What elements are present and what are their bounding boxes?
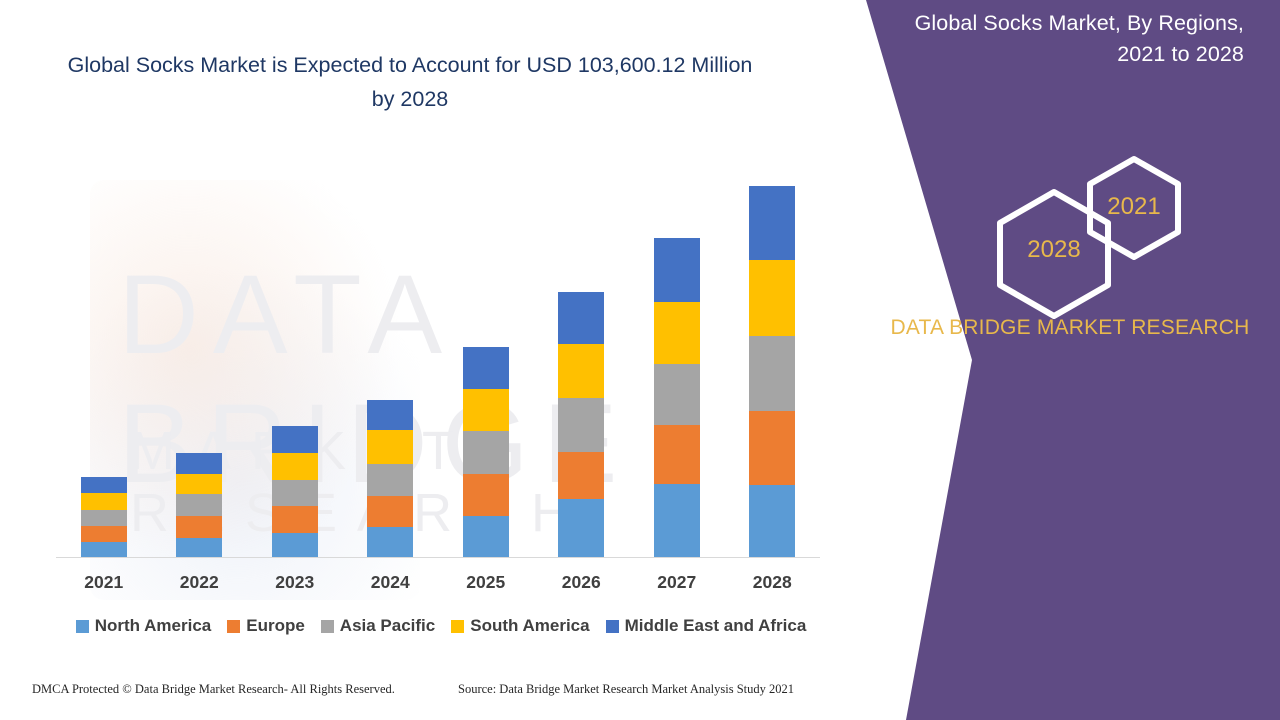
bar-segment[interactable] [558,344,604,398]
bar-segment[interactable] [654,302,700,364]
x-tick-2025: 2025 [441,572,531,593]
legend-item[interactable]: Europe [227,616,305,636]
legend-item[interactable]: South America [451,616,589,636]
bar-segment[interactable] [558,452,604,499]
bar-segment[interactable] [176,516,222,538]
x-tick-2026: 2026 [536,572,626,593]
bar-segment[interactable] [463,431,509,474]
bar-segment[interactable] [81,510,127,526]
footer-source: Source: Data Bridge Market Research Mark… [458,682,794,697]
chart-panel: DATA BRIDGE MARKET RESEARCH Global Socks… [0,0,866,720]
bar-segment[interactable] [367,527,413,558]
legend-swatch-icon [76,620,89,633]
x-tick-2023: 2023 [250,572,340,593]
x-tick-2024: 2024 [345,572,435,593]
bar-segment[interactable] [654,364,700,425]
bar-segment[interactable] [176,494,222,516]
bar-column-2024[interactable] [367,150,413,558]
right-panel-content: Global Socks Market, By Regions, 2021 to… [866,0,1280,720]
legend-item[interactable]: Asia Pacific [321,616,435,636]
bar-segment[interactable] [749,186,795,260]
legend-label: South America [470,616,589,636]
legend-label: Middle East and Africa [625,616,807,636]
x-axis-tick-labels: 20212022202320242025202620272028 [56,572,820,602]
chart-legend: North AmericaEuropeAsia PacificSouth Ame… [56,616,826,636]
bar-segment[interactable] [272,426,318,453]
bar-column-2028[interactable] [749,150,795,558]
bar-segment[interactable] [463,347,509,389]
legend-swatch-icon [606,620,619,633]
bar-segment[interactable] [367,464,413,496]
bar-segment[interactable] [81,493,127,510]
bar-column-2022[interactable] [176,150,222,558]
bar-segment[interactable] [749,260,795,336]
page-title: Global Socks Market is Expected to Accou… [60,48,760,116]
bar-segment[interactable] [81,477,127,493]
footer: DMCA Protected © Data Bridge Market Rese… [0,682,866,706]
legend-item[interactable]: North America [76,616,212,636]
bar-segment[interactable] [558,499,604,558]
hexagon-2021: 2021 [1086,155,1182,261]
axis-baseline [56,557,820,558]
bar-segment[interactable] [749,411,795,485]
bar-column-2025[interactable] [463,150,509,558]
bar-segment[interactable] [81,542,127,558]
legend-label: North America [95,616,212,636]
bar-segment[interactable] [367,430,413,464]
bar-segment[interactable] [749,485,795,558]
bar-segment[interactable] [272,480,318,506]
legend-label: Europe [246,616,305,636]
bar-segment[interactable] [749,336,795,411]
legend-label: Asia Pacific [340,616,435,636]
bar-segment[interactable] [463,516,509,558]
bar-column-2021[interactable] [81,150,127,558]
bar-segment[interactable] [272,506,318,533]
bar-segment[interactable] [272,533,318,558]
bar-segment[interactable] [654,484,700,558]
bar-segment[interactable] [654,238,700,302]
panel-title: Global Socks Market, By Regions, 2021 to… [884,8,1244,70]
bar-column-2027[interactable] [654,150,700,558]
bar-segment[interactable] [367,400,413,430]
bar-segment[interactable] [272,453,318,480]
x-tick-2028: 2028 [727,572,817,593]
bar-segment[interactable] [558,292,604,344]
hexagon-2021-label: 2021 [1086,193,1182,221]
bar-segment[interactable] [176,474,222,494]
x-tick-2021: 2021 [59,572,149,593]
bar-segment[interactable] [176,538,222,558]
legend-swatch-icon [227,620,240,633]
bar-segment[interactable] [463,389,509,431]
legend-item[interactable]: Middle East and Africa [606,616,807,636]
x-tick-2022: 2022 [154,572,244,593]
bar-segment[interactable] [367,496,413,527]
legend-swatch-icon [451,620,464,633]
bar-segment[interactable] [176,453,222,474]
bar-segment[interactable] [81,526,127,542]
x-tick-2027: 2027 [632,572,722,593]
bar-segment[interactable] [558,398,604,452]
stacked-bar-plot [56,150,820,558]
legend-swatch-icon [321,620,334,633]
bar-segment[interactable] [654,425,700,484]
footer-copyright: DMCA Protected © Data Bridge Market Rese… [32,682,395,697]
bar-segment[interactable] [463,474,509,516]
bar-column-2026[interactable] [558,150,604,558]
bar-column-2023[interactable] [272,150,318,558]
